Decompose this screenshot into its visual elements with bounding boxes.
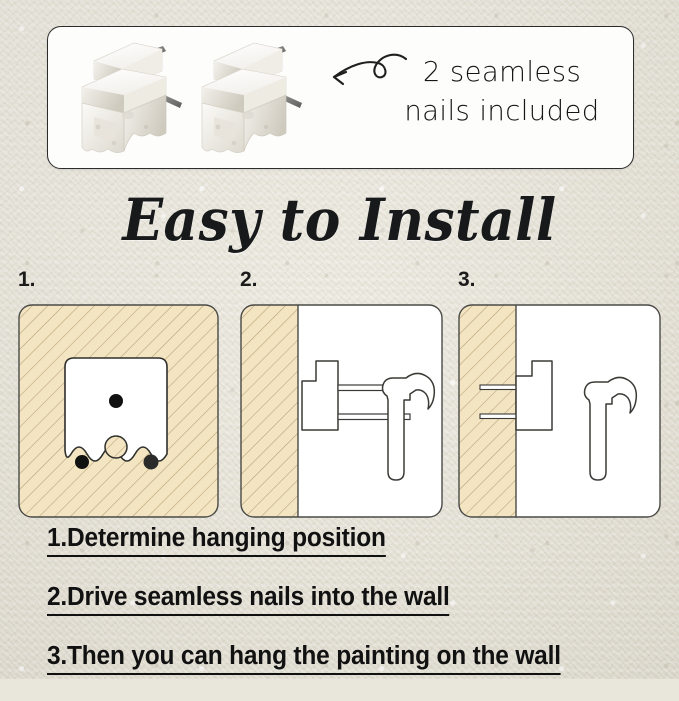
- callout-text: 2 seamless nails included: [378, 53, 626, 131]
- step-panel-1-number: 1.: [18, 268, 36, 292]
- step-1-illustration: [18, 304, 219, 518]
- page-title: Easy to Install: [27, 186, 652, 254]
- instruction-list: 1.Determine hanging position 2.Drive sea…: [47, 524, 667, 701]
- step-panel-3-number: 3.: [458, 268, 476, 292]
- step-panel-2-number: 2.: [240, 268, 258, 292]
- callout-line-1: 2 seamless: [378, 53, 626, 92]
- step-3-illustration: [458, 304, 661, 518]
- callout-line-2: nails included: [378, 92, 626, 131]
- instruction-step-1: 1.Determine hanging position: [47, 524, 386, 557]
- instruction-row-2: 2.Drive seamless nails into the wall: [47, 583, 667, 642]
- instruction-row-1: 1.Determine hanging position: [47, 524, 667, 583]
- step-panel-1: 1.: [18, 304, 219, 518]
- seamless-nails-callout-card: 2 seamless nails included: [47, 26, 634, 169]
- step-2-illustration: [240, 304, 443, 518]
- instruction-step-3: 3.Then you can hang the painting on the …: [47, 642, 561, 675]
- instruction-row-3: 3.Then you can hang the painting on the …: [47, 642, 667, 701]
- instruction-step-2: 2.Drive seamless nails into the wall: [47, 583, 450, 616]
- step-panel-2: 2.: [240, 304, 443, 518]
- step-panel-3: 3.: [458, 304, 661, 518]
